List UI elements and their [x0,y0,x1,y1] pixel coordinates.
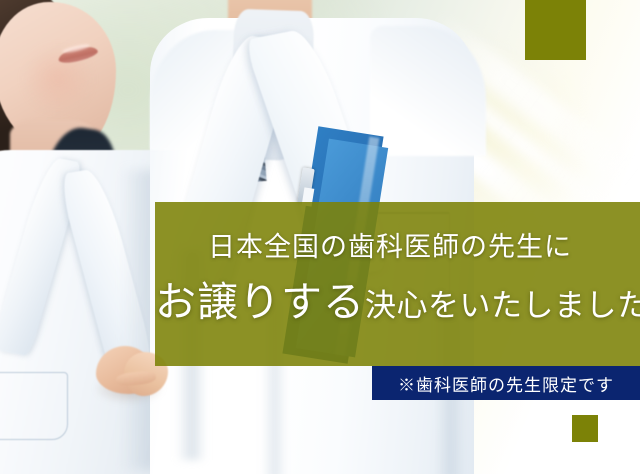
headline-line-2: お譲りする決心をいたしました [155,278,640,336]
hero-banner: 日本全国の歯科医師の先生に お譲りする決心をいたしました ※歯科医師の先生限定で… [0,0,640,474]
headline-line-1: 日本全国の歯科医師の先生に [155,230,625,264]
headline-block: 日本全国の歯科医師の先生に お譲りする決心をいたしました [155,202,640,366]
restriction-caption-text: ※歯科医師の先生限定です [398,371,614,396]
headline-emphasis-text: お譲りする [155,279,365,325]
restriction-caption-bar: ※歯科医師の先生限定です [372,366,640,400]
olive-accent-square-top [525,0,586,60]
headline-rest-text: 決心をいたしました [365,288,640,323]
olive-accent-square-bottom [572,415,598,442]
female-doctor-coat-pocket [0,372,68,440]
